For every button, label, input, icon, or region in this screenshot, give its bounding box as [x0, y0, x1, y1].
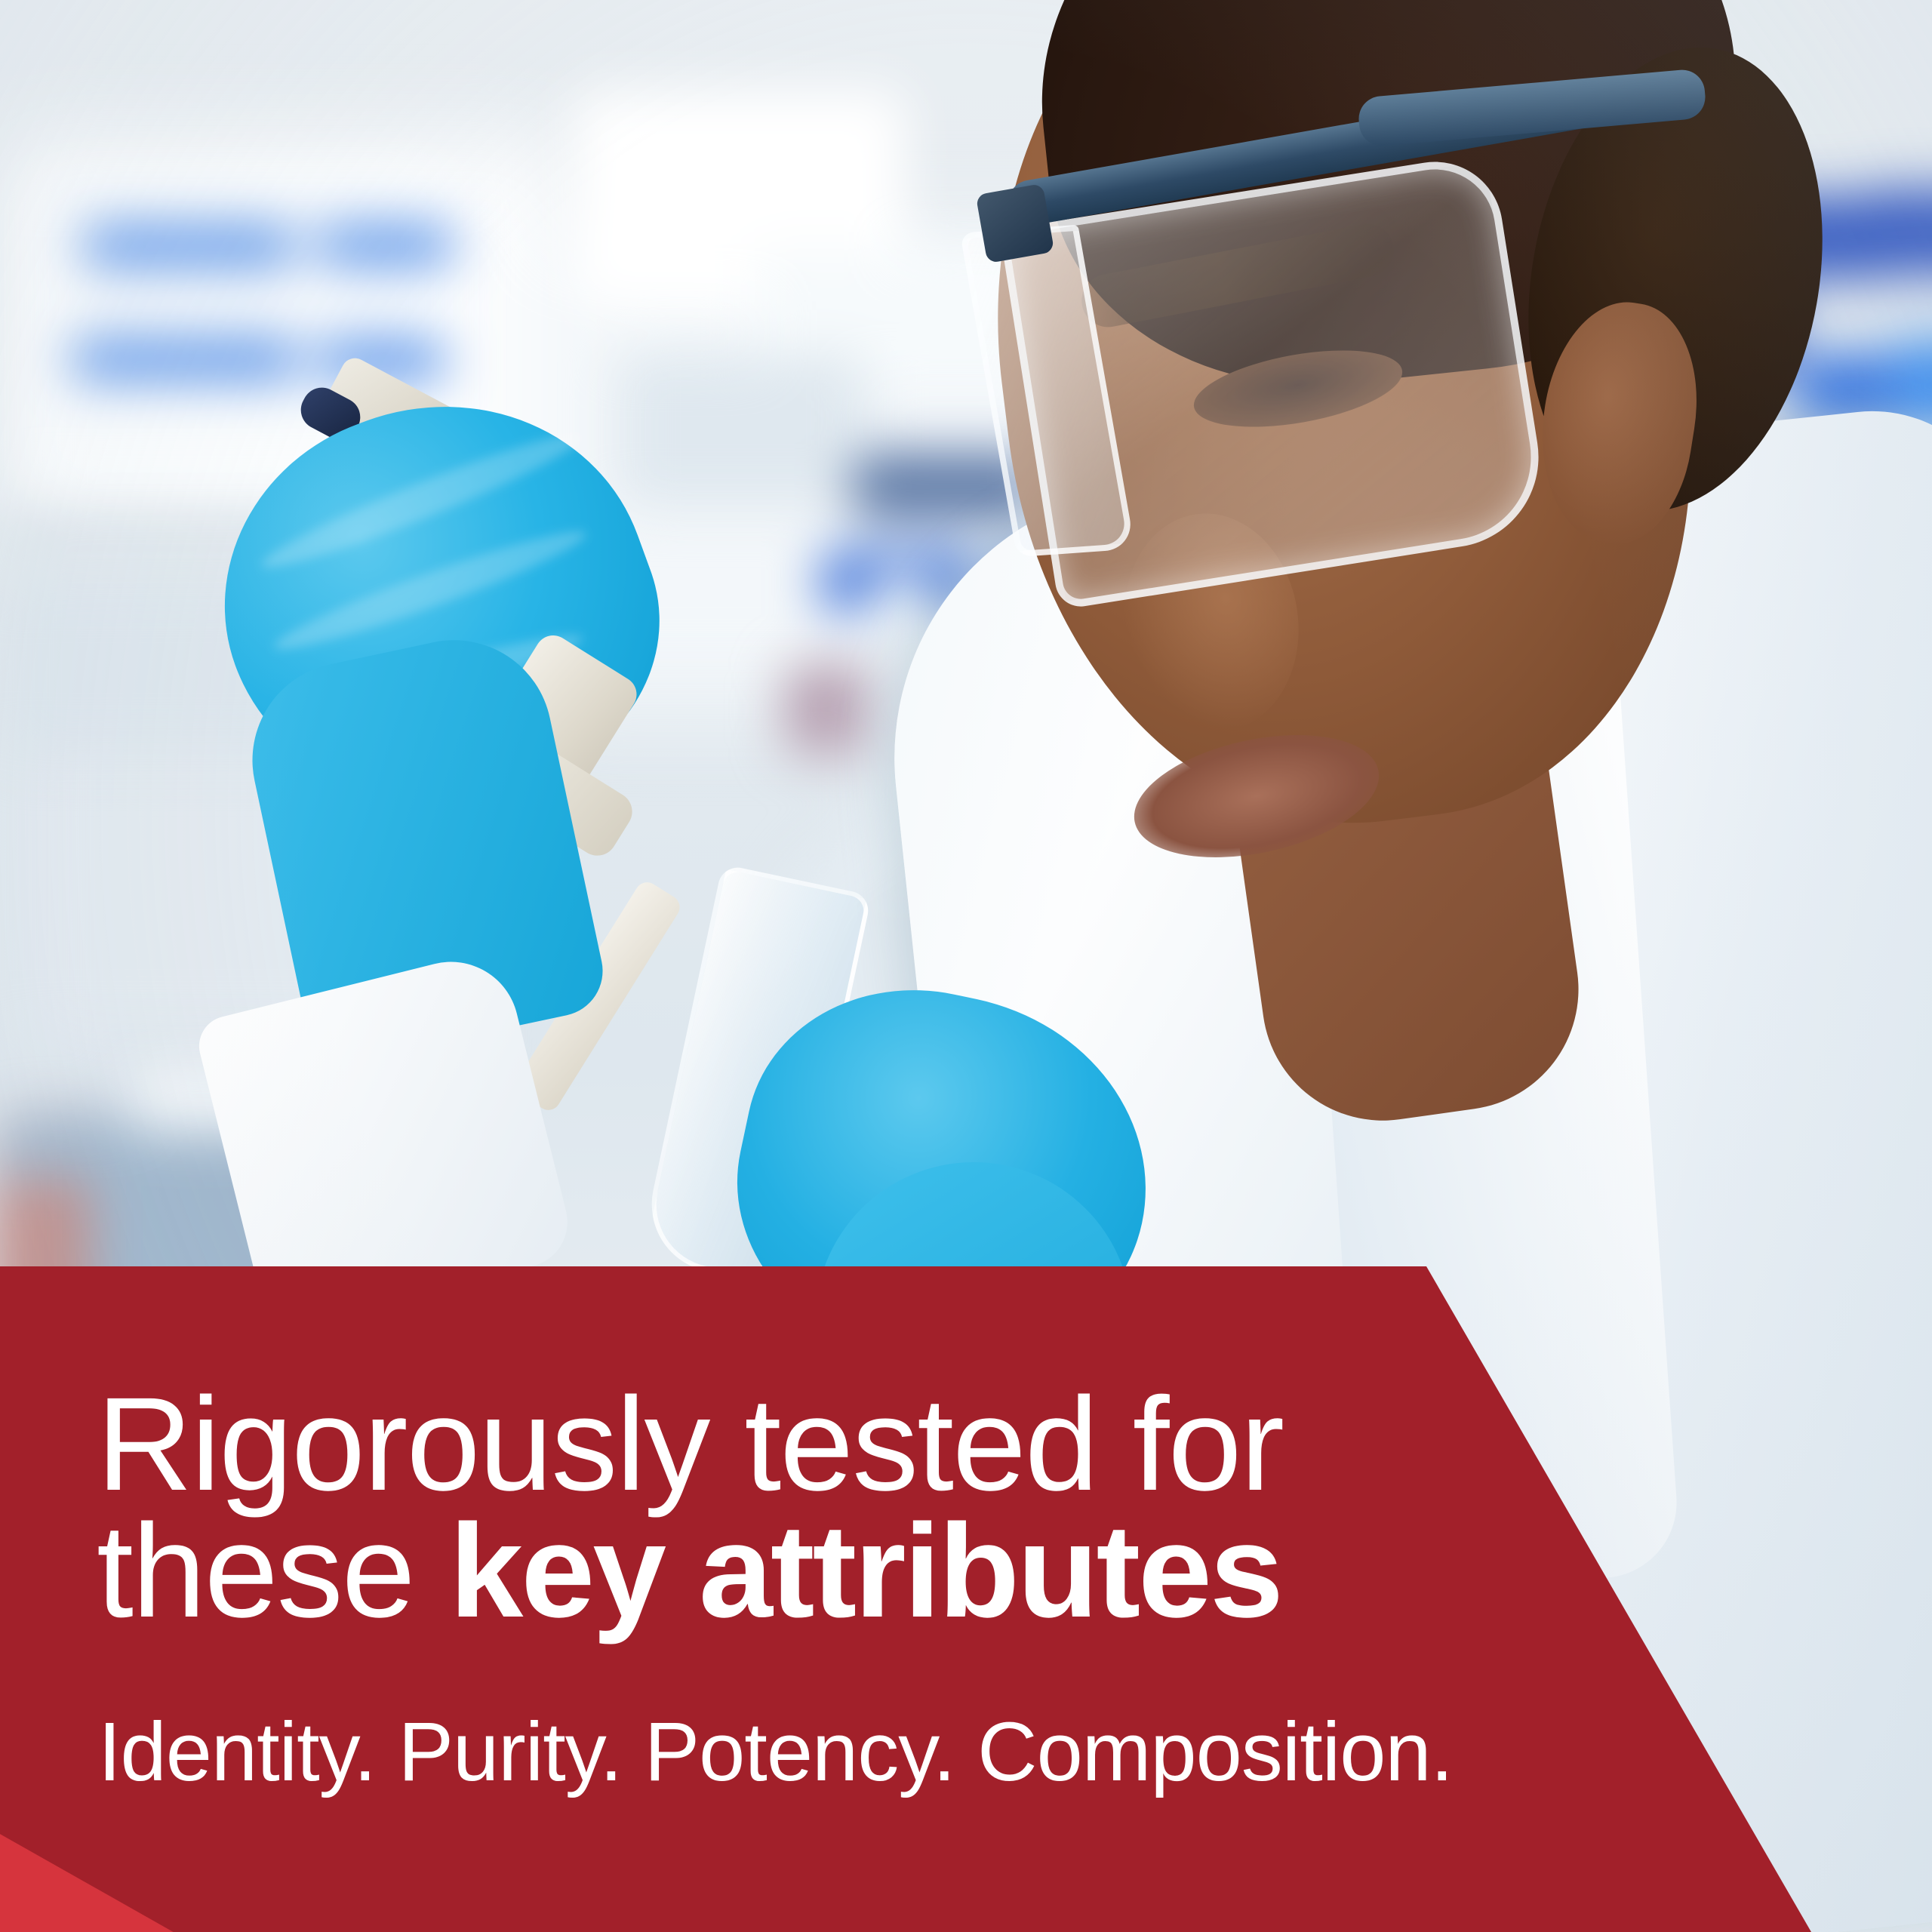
headline: Rigorously tested for these key attribut…	[97, 1381, 1283, 1635]
subheadline: Identity. Purity. Potency. Composition.	[98, 1710, 1453, 1795]
hero-card: Rigorously tested for these key attribut…	[0, 0, 1932, 1932]
headline-line-1: Rigorously tested for	[97, 1381, 1283, 1508]
headline-line-2-regular: these	[97, 1497, 449, 1645]
safety-goggles-hinge	[976, 183, 1055, 263]
headline-line-2: these key attributes	[97, 1508, 1283, 1635]
headline-line-2-bold: key attributes	[449, 1497, 1281, 1645]
